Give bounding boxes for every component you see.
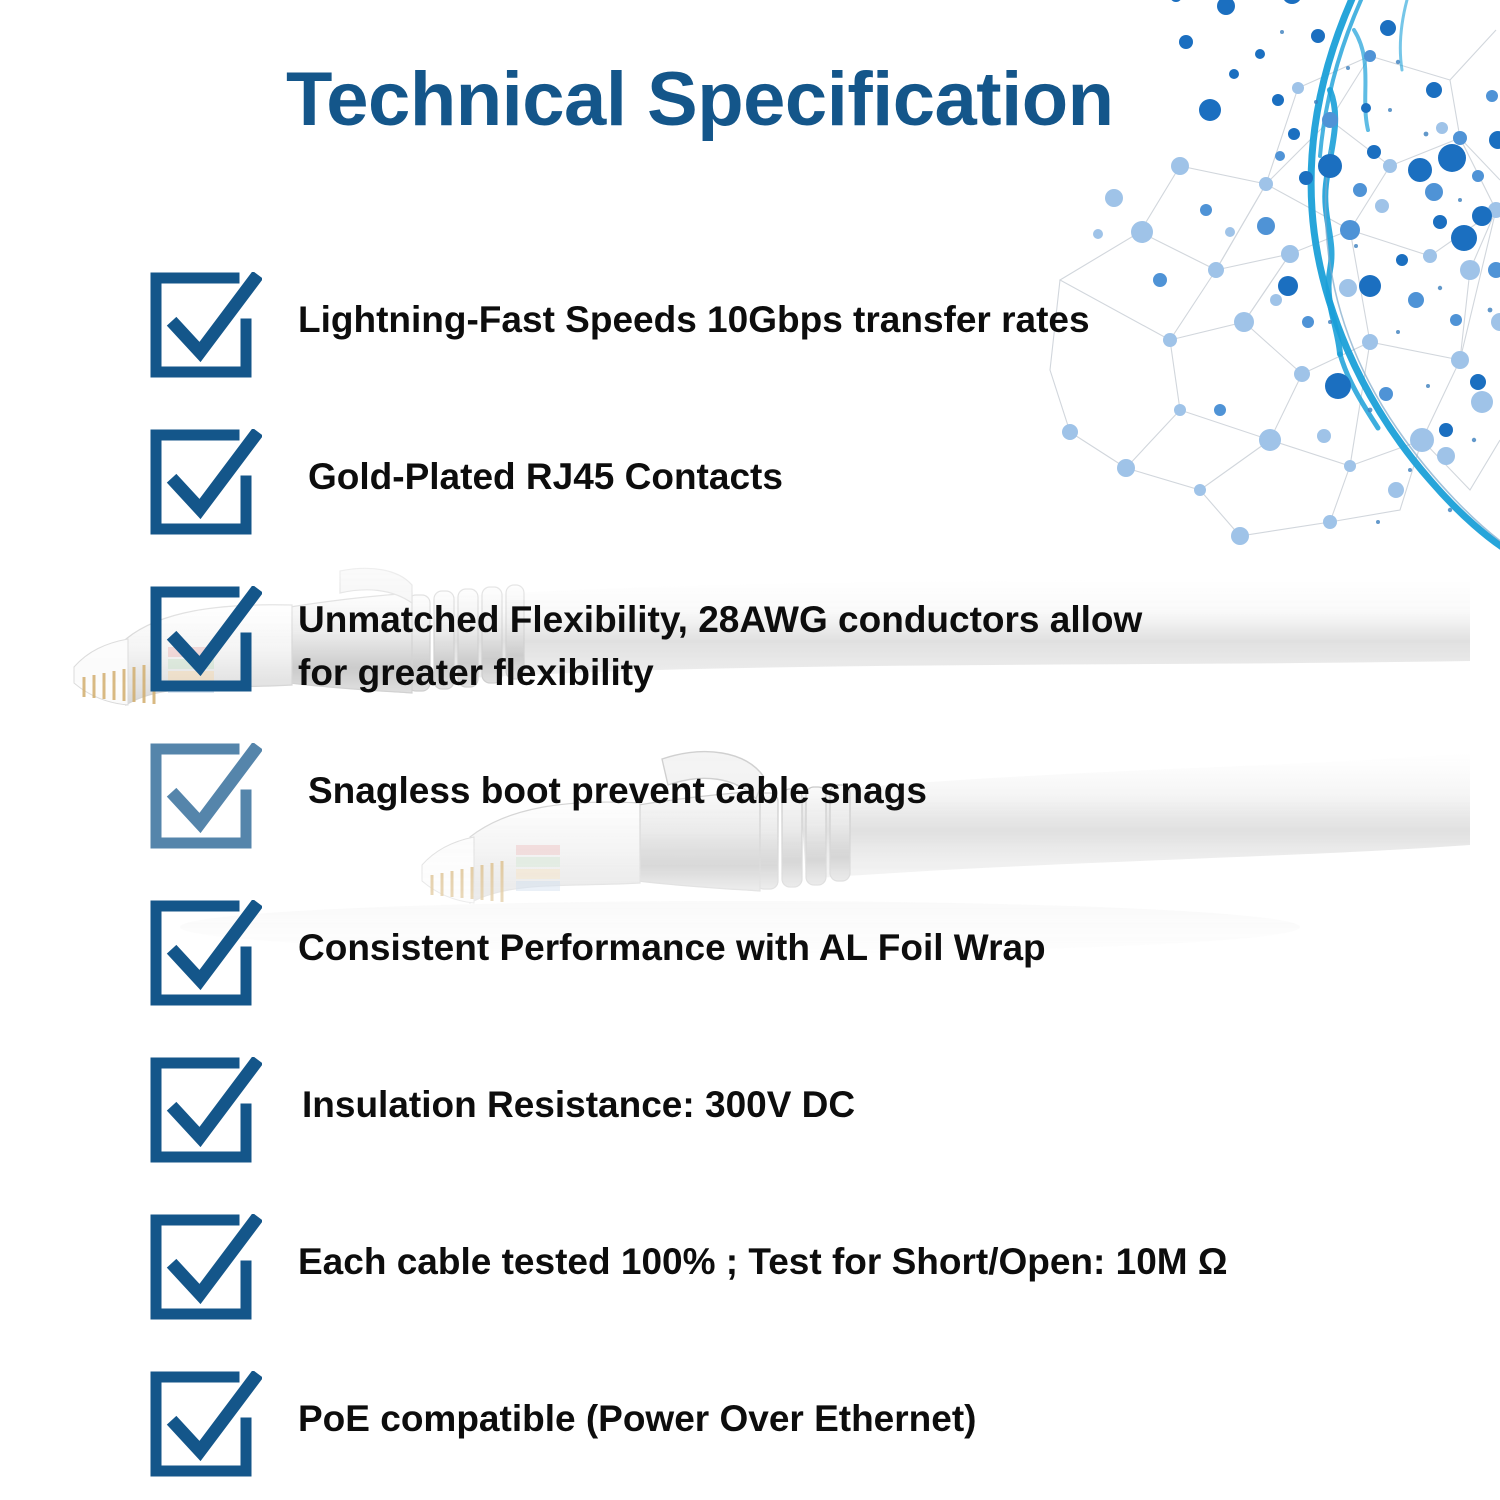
list-item-label: Unmatched Flexibility, 28AWG conductors … <box>298 594 1142 699</box>
list-item-label: Each cable tested 100% ; Test for Short/… <box>298 1236 1228 1289</box>
checkbox-checked-icon <box>150 429 262 541</box>
list-item: Insulation Resistance: 300V DC <box>150 1057 1470 1214</box>
checkbox-checked-icon <box>150 272 262 384</box>
checkbox-checked-icon <box>150 586 262 698</box>
technical-specification-page: Technical Specification Lightning-Fast S… <box>0 0 1500 1500</box>
checkbox-checked-icon <box>150 1057 262 1169</box>
specification-list: Lightning-Fast Speeds 10Gbps transfer ra… <box>150 272 1470 1500</box>
list-item: Unmatched Flexibility, 28AWG conductors … <box>150 586 1470 743</box>
list-item-label: Snagless boot prevent cable snags <box>308 765 927 818</box>
list-item-label: Lightning-Fast Speeds 10Gbps transfer ra… <box>298 294 1090 347</box>
list-item: Lightning-Fast Speeds 10Gbps transfer ra… <box>150 272 1470 429</box>
checkbox-checked-icon <box>150 743 262 855</box>
list-item: Each cable tested 100% ; Test for Short/… <box>150 1214 1470 1371</box>
list-item: Consistent Performance with AL Foil Wrap <box>150 900 1470 1057</box>
list-item-label: Gold-Plated RJ45 Contacts <box>308 451 783 504</box>
checkbox-checked-icon <box>150 1214 262 1326</box>
list-item: Snagless boot prevent cable snags <box>150 743 1470 900</box>
checkbox-checked-icon <box>150 1371 262 1483</box>
list-item-label: Insulation Resistance: 300V DC <box>302 1079 855 1132</box>
page-title: Technical Specification <box>286 62 1114 138</box>
list-item-label: Consistent Performance with AL Foil Wrap <box>298 922 1046 975</box>
checkbox-checked-icon <box>150 900 262 1012</box>
list-item-label: PoE compatible (Power Over Ethernet) <box>298 1393 976 1446</box>
list-item: PoE compatible (Power Over Ethernet) <box>150 1371 1470 1500</box>
list-item: Gold-Plated RJ45 Contacts <box>150 429 1470 586</box>
